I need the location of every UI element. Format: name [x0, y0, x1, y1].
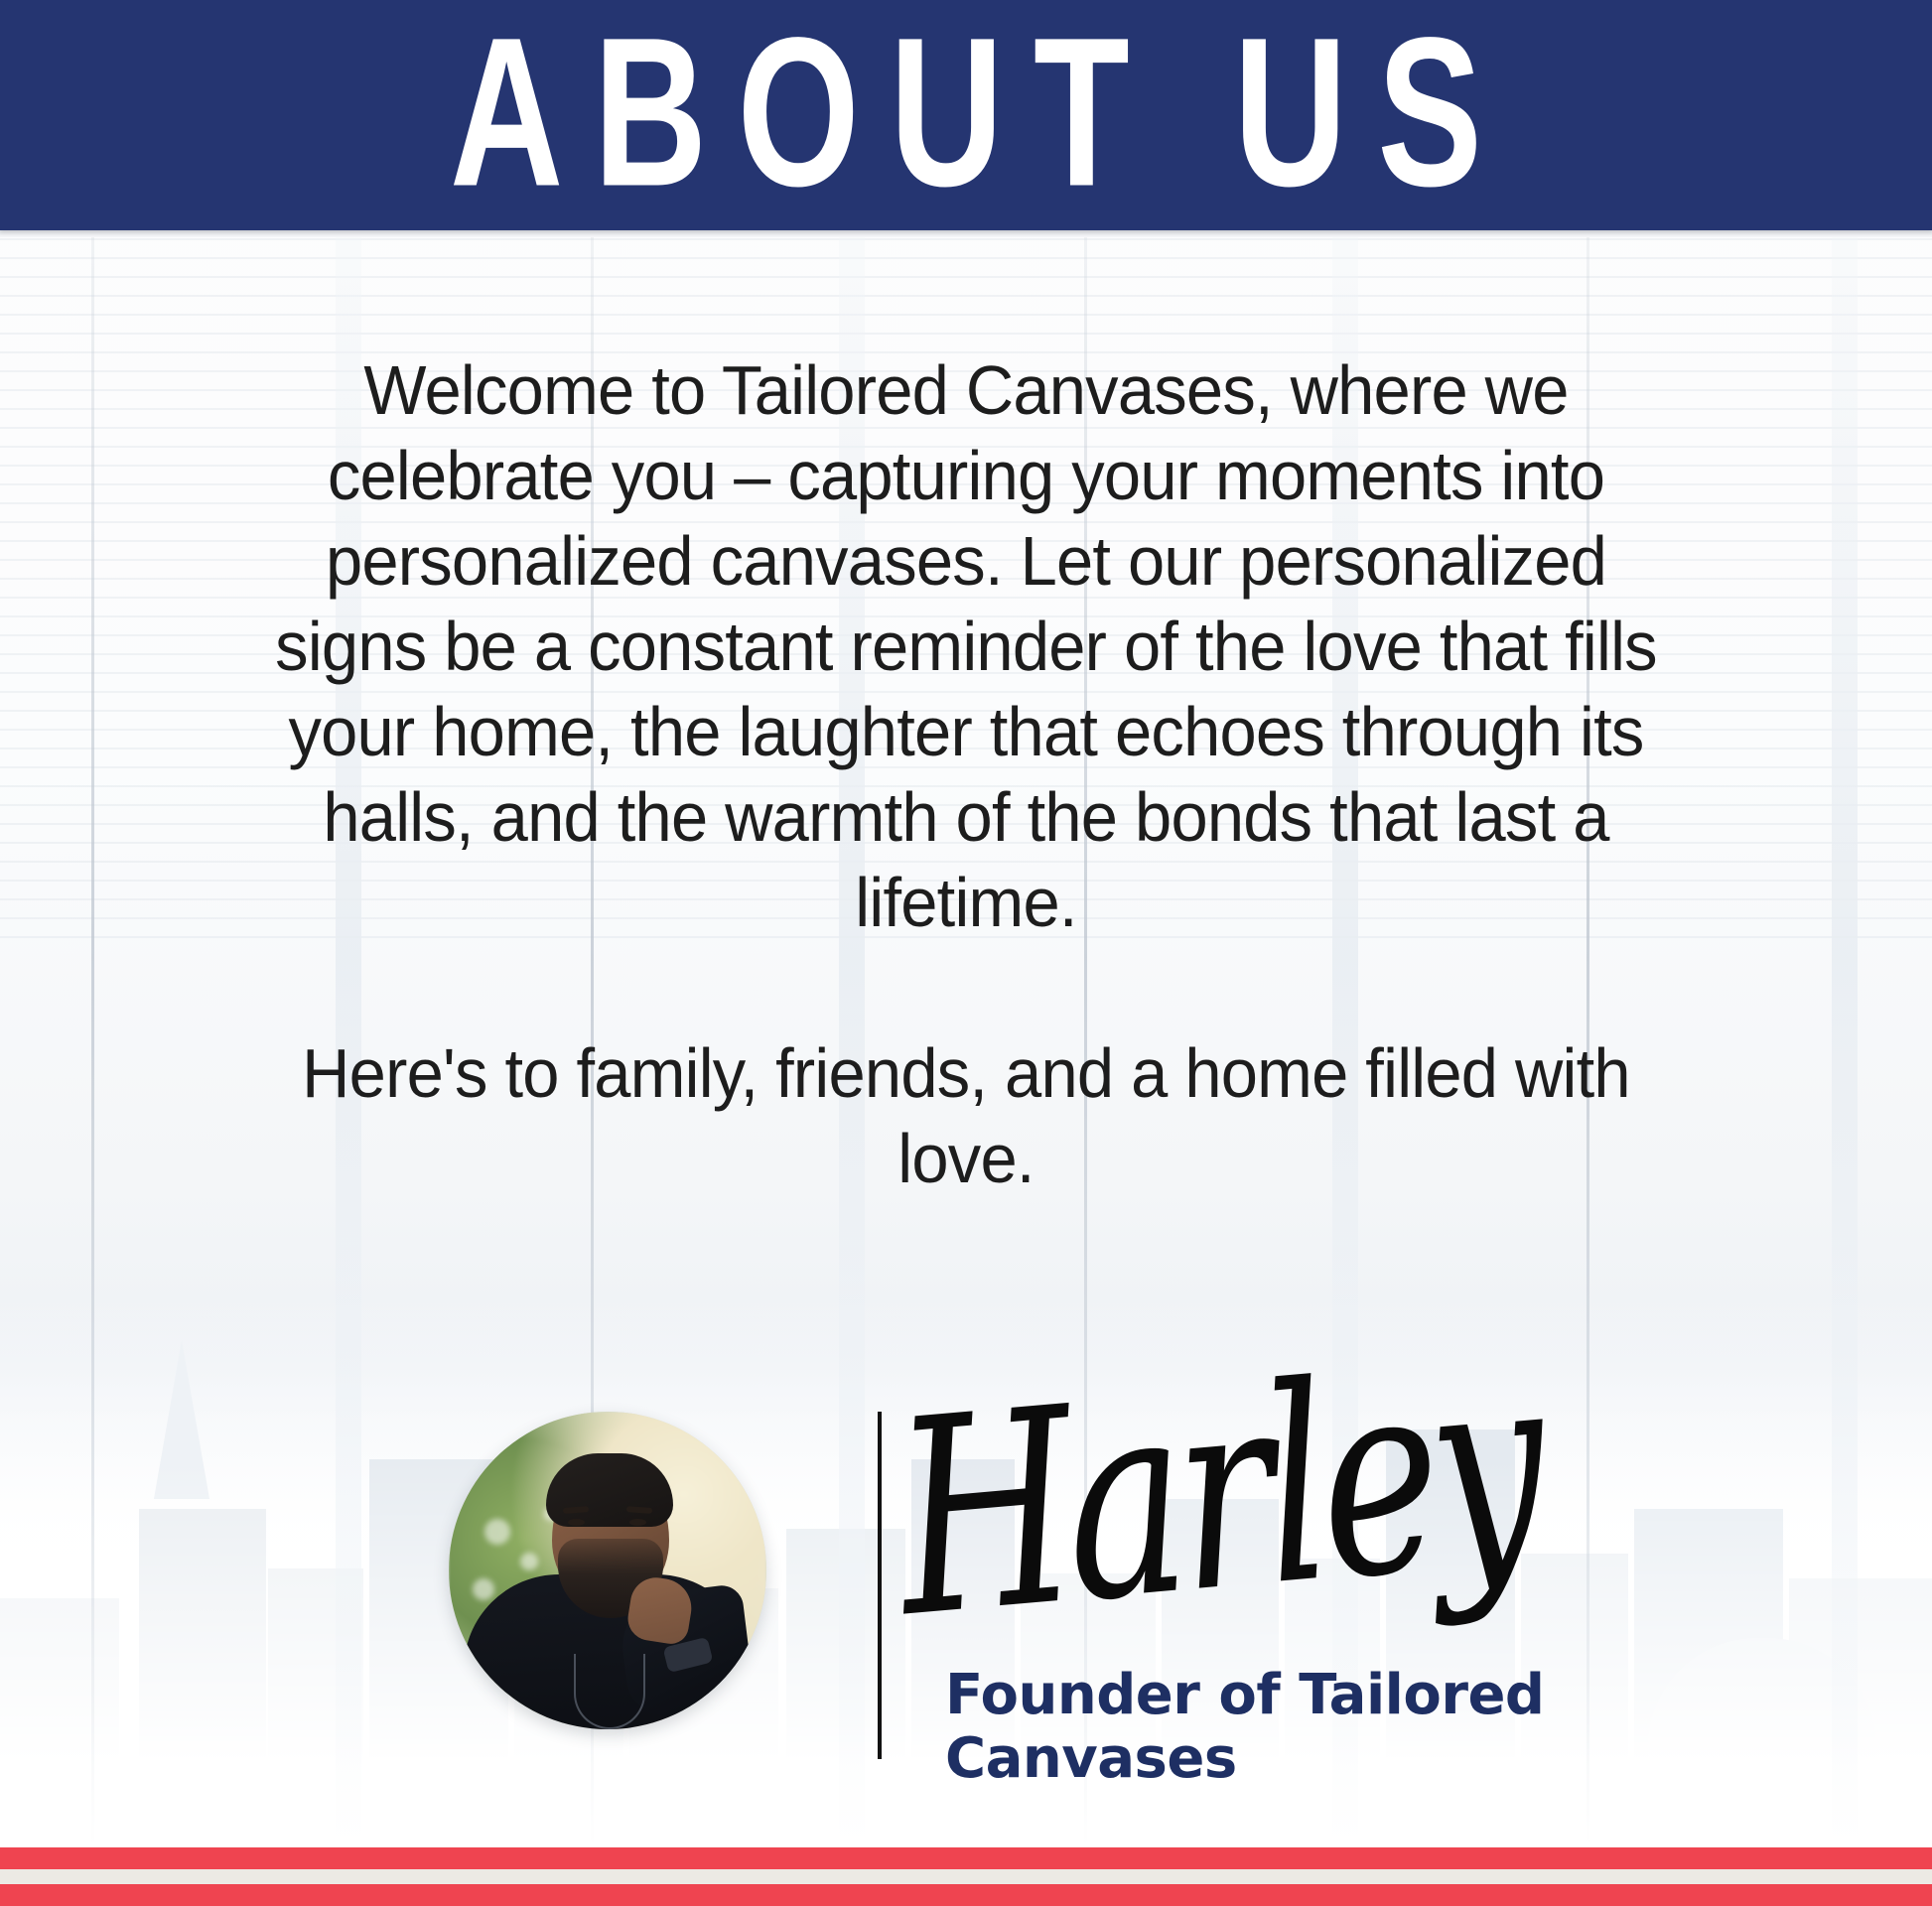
footer-stripe-top	[0, 1847, 1932, 1869]
about-paragraph-1: Welcome to Tailored Canvases, where we c…	[274, 347, 1658, 945]
founder-block: Harley Founder of Tailored Canvases	[0, 1390, 1932, 1807]
page-title: ABOUT US	[420, 6, 1513, 218]
about-copy: Welcome to Tailored Canvases, where we c…	[241, 347, 1691, 1201]
bokeh-dot	[484, 1519, 510, 1545]
header-underline	[0, 230, 1932, 237]
signature-wrap: Harley	[898, 1390, 1514, 1688]
founder-role: Founder of Tailored Canvases	[945, 1664, 1620, 1791]
avatar-eye	[629, 1519, 646, 1526]
bokeh-dot	[520, 1553, 538, 1570]
about-paragraph-2: Here's to family, friends, and a home fi…	[274, 1030, 1658, 1201]
footer-stripe-bottom	[0, 1884, 1932, 1906]
founder-signature: Harley	[887, 1332, 1547, 1656]
bokeh-dot	[473, 1578, 494, 1600]
founder-role-line-1: Founder of Tailored	[945, 1664, 1620, 1727]
avatar-hair	[546, 1453, 673, 1527]
footer-stripe-gap	[0, 1869, 1932, 1884]
avatar-necklace	[574, 1654, 645, 1729]
avatar-eye	[568, 1519, 585, 1526]
about-us-poster: ABOUT US Welcome to Tailored Canvases, w…	[0, 0, 1932, 1906]
vertical-divider	[878, 1412, 882, 1759]
header-banner: ABOUT US	[0, 0, 1932, 230]
founder-role-line-2: Canvases	[945, 1727, 1620, 1791]
avatar	[449, 1412, 766, 1729]
